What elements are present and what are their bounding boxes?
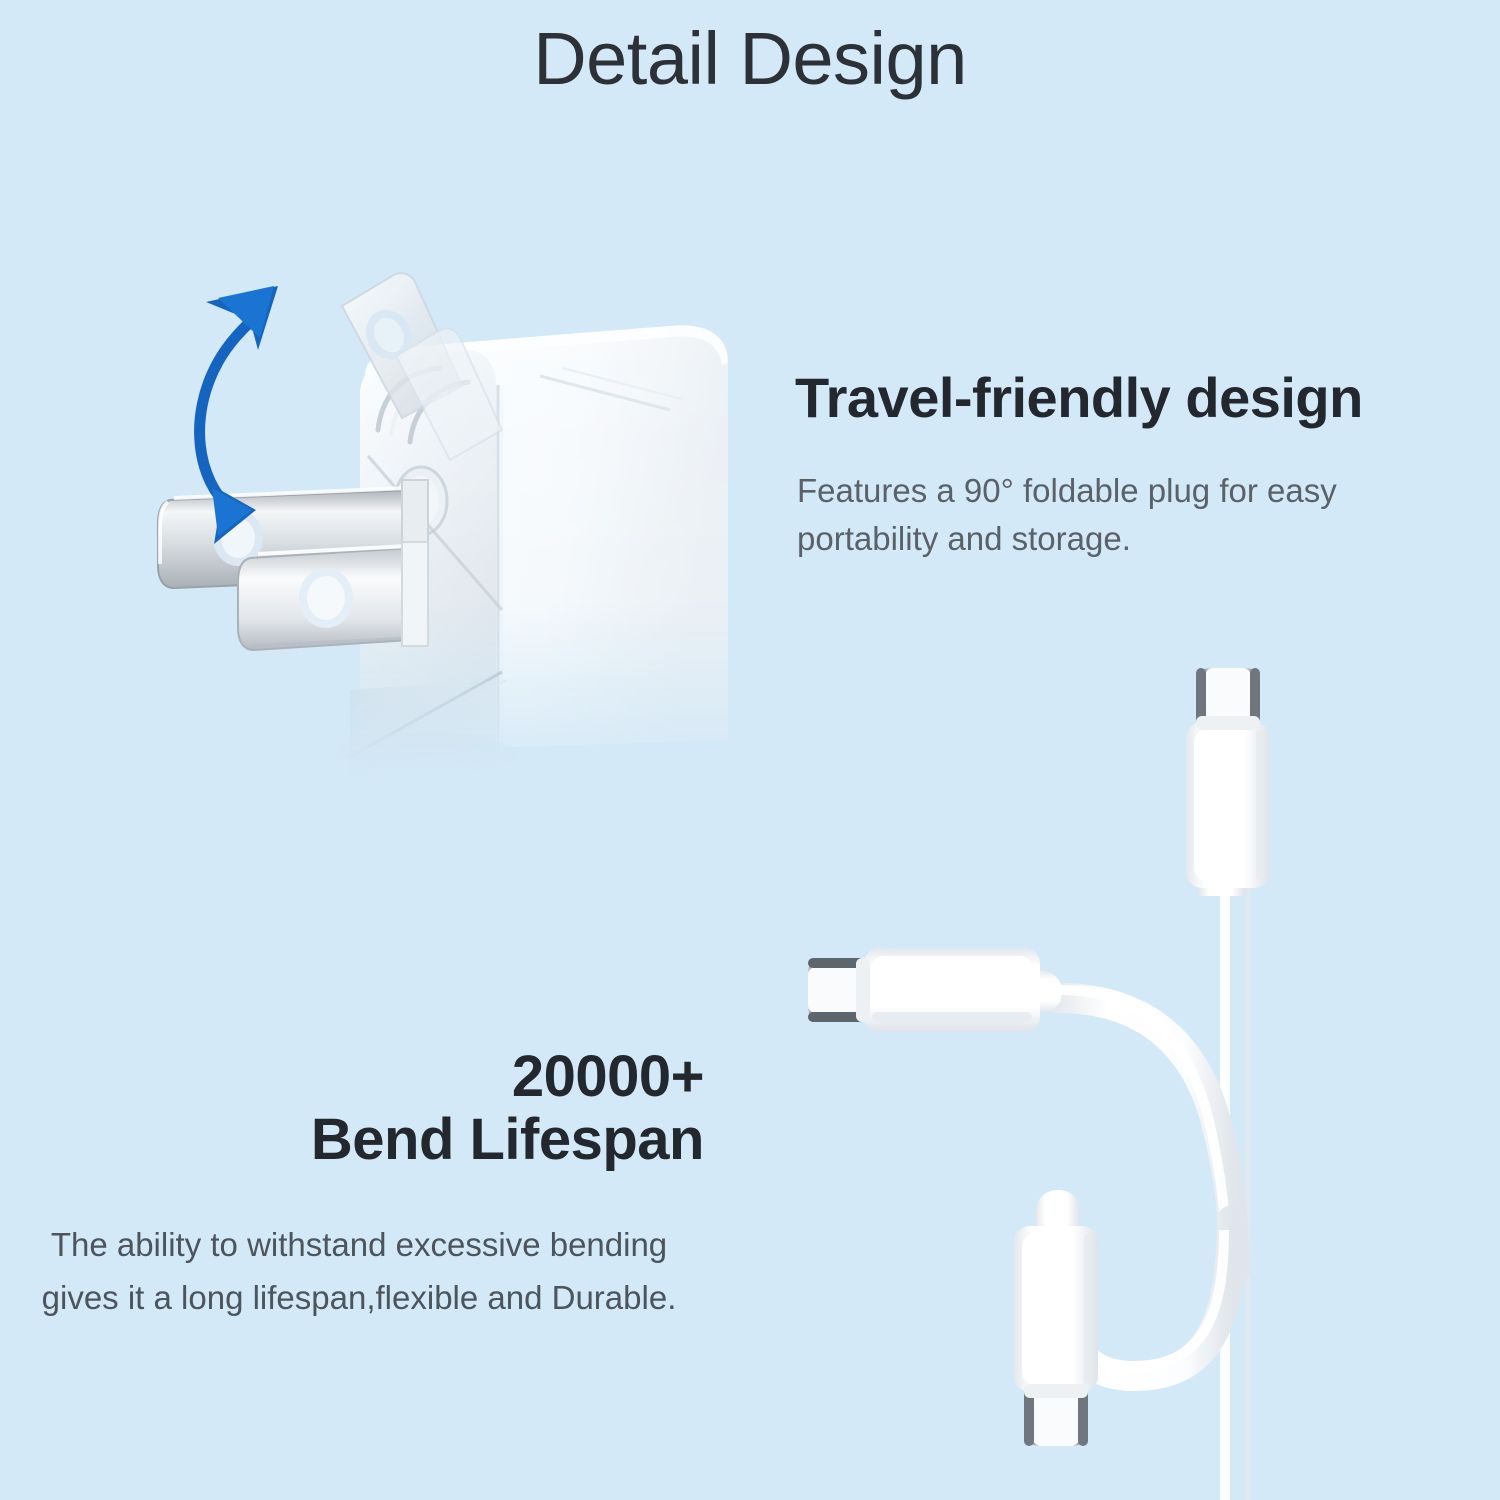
usb-c-cable-illustration: [790, 660, 1500, 1500]
ac-prongs: [158, 480, 428, 650]
feature-heading-travel-friendly: Travel-friendly design: [795, 368, 1495, 428]
feature-heading-bend-lifespan-line2: Bend Lifespan: [0, 1109, 704, 1172]
feature-heading-bend-lifespan-line1: 20000+: [0, 1046, 704, 1109]
infographic-page: Detail Design: [0, 0, 1500, 1500]
usb-c-connector-bottom: [1014, 1190, 1098, 1446]
usb-c-connector-top: [1186, 668, 1270, 896]
feature-heading-bend-lifespan: 20000+ Bend Lifespan: [0, 1046, 704, 1171]
feature-body-bend-lifespan: The ability to withstand excessive bendi…: [10, 1218, 708, 1325]
page-title: Detail Design: [0, 18, 1500, 99]
foldable-plug-charger-illustration: [110, 180, 750, 780]
usb-c-connector-left: [808, 948, 1062, 1032]
feature-body-travel-friendly: Features a 90° foldable plug for easy po…: [797, 467, 1397, 563]
